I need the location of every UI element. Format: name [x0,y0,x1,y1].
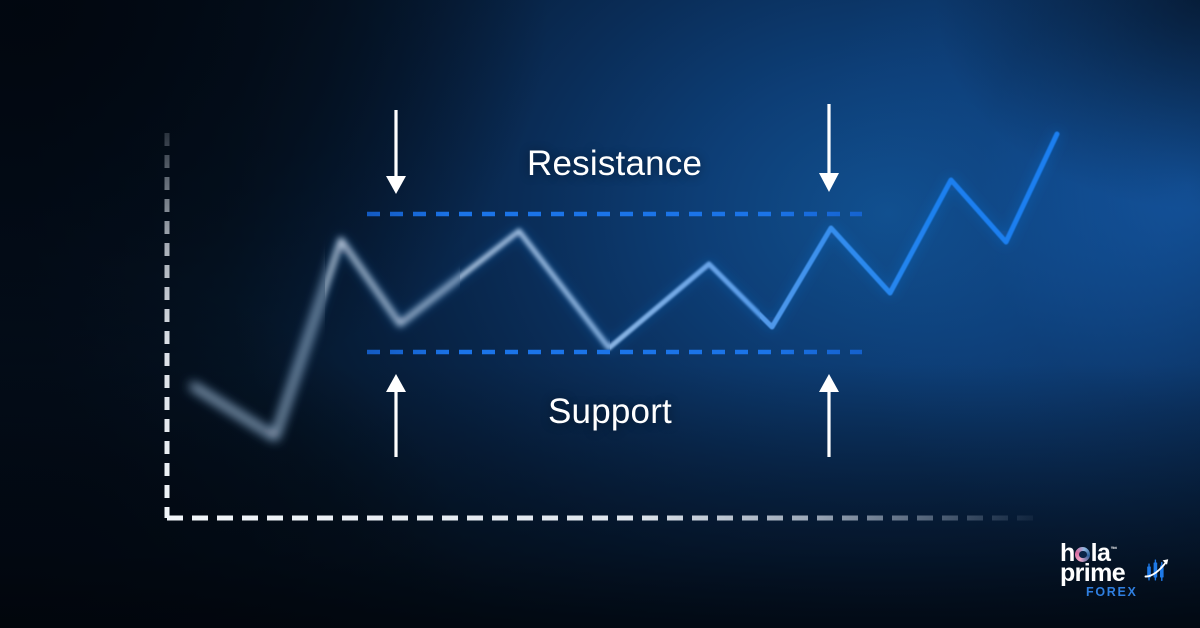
infographic-canvas: Resistance Support hla™ prime FOREX [0,0,1200,628]
support-arrow-right-icon [819,374,839,457]
logo-wordmark: hla™ prime FOREX [1060,540,1172,602]
chart-plot [0,0,1200,628]
support-label: Support [548,392,672,432]
candlestick-icon [1144,556,1174,586]
resistance-label: Resistance [527,144,702,184]
support-arrow-left-icon [386,374,406,457]
resistance-arrow-left-icon [386,110,406,194]
resistance-arrow-right-icon [819,104,839,192]
chart-axes [167,133,1040,518]
logo-tagline: FOREX [1086,585,1138,599]
brand-logo[interactable]: hla™ prime FOREX [1060,540,1172,602]
trademark-symbol: ™ [1110,547,1116,554]
logo-line-prime: prime [1060,561,1125,586]
